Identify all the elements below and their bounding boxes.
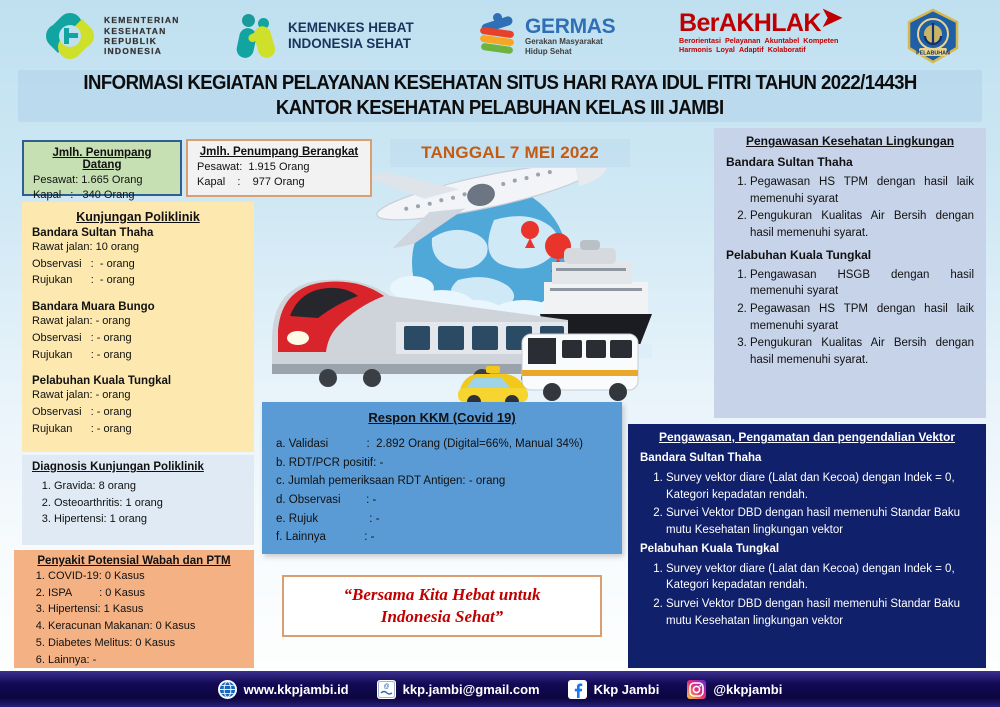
- list-item: Survey vektor diare (Lalat dan Kecoa) de…: [666, 561, 974, 594]
- poliklinik-group-0-row-1: Observasi : - orang: [32, 256, 244, 273]
- berakhlak-sub-line-2: HarmonisLoyalAdaptifKolaboratif: [679, 45, 843, 55]
- list-item: Hipertensi: 1 orang: [54, 511, 244, 528]
- respon-kkm-row-f: f. Lainnya : -: [276, 528, 608, 547]
- poliklinik-group-muara-bungo: Bandara Muara Bungo Rawat jalan: - orang…: [32, 301, 244, 363]
- respon-kkm-row-d: d. Observasi : -: [276, 491, 608, 510]
- footer-instagram-label: @kkpjambi: [713, 682, 782, 697]
- header-logo-band: KEMENTERIAN KESEHATAN REPUBLIK INDONESIA…: [0, 0, 1000, 68]
- footer-website[interactable]: www.kkpjambi.id: [218, 680, 349, 699]
- globe-icon: [218, 680, 237, 699]
- footer-facebook-label: Kkp Jambi: [594, 682, 660, 697]
- kesling-title: Pengawasan Kesehatan Lingkungan: [726, 134, 974, 148]
- list-item: Pegawasan HS TPM dengan hasil laik memen…: [750, 174, 974, 207]
- slogan-line-2: Indonesia Sehat”: [381, 606, 503, 628]
- poster-title-band: INFORMASI KEGIATAN PELAYANAN KESEHATAN S…: [18, 70, 982, 122]
- poliklinik-group-1-row-1: Observasi : - orang: [32, 330, 244, 347]
- vektor-group-0-list: Survey vektor diare (Lalat dan Kecoa) de…: [640, 470, 974, 539]
- respon-kkm-row-e: e. Rujuk : -: [276, 510, 608, 529]
- infographic-poster: KEMENTERIAN KESEHATAN REPUBLIK INDONESIA…: [0, 0, 1000, 707]
- page-title-line-2: KANTOR KESEHATAN PELABUHAN KELAS III JAM…: [276, 96, 724, 121]
- list-item: Survei Vektor DBD dengan hasil memenuhi …: [666, 596, 974, 629]
- respon-kkm-title: Respon KKM (Covid 19): [276, 410, 608, 425]
- list-item: ISPA : 0 Kasus: [48, 585, 246, 602]
- passenger-departure-title: Jmlh. Penumpang Berangkat: [197, 146, 361, 158]
- berakhlak-caret-icon: ➤: [821, 12, 843, 22]
- svg-text:PELABUHAN: PELABUHAN: [916, 51, 950, 57]
- list-item: Survey vektor diare (Lalat dan Kecoa) de…: [666, 470, 974, 503]
- respon-kkm-row-a: a. Validasi : 2.892 Orang (Digital=66%, …: [276, 435, 608, 454]
- list-item: COVID-19: 0 Kasus: [48, 568, 246, 585]
- pelabuhan-crest-icon: PELABUHAN: [905, 8, 961, 64]
- poliklinik-group-sultan-thaha: Bandara Sultan Thaha Rawat jalan: 10 ora…: [32, 227, 244, 289]
- germas-logo-text: GERMAS Gerakan Masyarakat Hidup Sehat: [525, 16, 615, 57]
- svg-text:@: @: [383, 684, 389, 690]
- list-item: Pengukuran Kualitas Air Bersih dengan ha…: [750, 208, 974, 241]
- passenger-departure-box: Jmlh. Penumpang Berangkat Pesawat: 1.915…: [186, 139, 372, 197]
- slogan-box: “Bersama Kita Hebat untuk Indonesia Seha…: [282, 575, 602, 637]
- passenger-arrival-plane: Pesawat: 1.665 Orang: [33, 173, 171, 188]
- vektor-group-0-name: Bandara Sultan Thaha: [640, 452, 974, 464]
- germas-mark-icon: [477, 13, 519, 59]
- poliklinik-group-0-name: Bandara Sultan Thaha: [32, 227, 244, 239]
- respon-kkm-panel: Respon KKM (Covid 19) a. Validasi : 2.89…: [262, 402, 622, 554]
- list-item: Keracunan Makanan: 0 Kasus: [48, 618, 246, 635]
- respon-kkm-row-b: b. RDT/PCR positif: -: [276, 454, 608, 473]
- berakhlak-sub-line-1: BerorientasiPelayananAkuntabelKompeten: [679, 36, 843, 46]
- kesling-group-1-list: Pengawasan HSGB dengan hasil memenuhi sy…: [726, 267, 974, 369]
- list-item: Gravida: 8 orang: [54, 478, 244, 495]
- passenger-departure-ship: Kapal : 977 Orang: [197, 175, 361, 190]
- poliklinik-group-1-row-2: Rujukan : - orang: [32, 347, 244, 364]
- berakhlak-logo: BerAKHLAK ➤ BerorientasiPelayananAkuntab…: [679, 12, 843, 55]
- poliklinik-group-0-row-2: Rujukan : - orang: [32, 272, 244, 289]
- passenger-arrival-box: Jmlh. Penumpang Datang Pesawat: 1.665 Or…: [22, 140, 182, 196]
- footer-email[interactable]: @ kkp.jambi@gmail.com: [377, 680, 540, 699]
- respon-kkm-row-c: c. Jumlah pemeriksaan RDT Antigen: - ora…: [276, 472, 608, 491]
- slogan-line-1: “Bersama Kita Hebat untuk: [344, 584, 541, 606]
- list-item: Diabetes Melitus: 0 Kasus: [48, 635, 246, 652]
- facebook-icon: [568, 680, 587, 699]
- list-item: Pegawasan HS TPM dengan hasil laik memen…: [750, 301, 974, 334]
- kesehatan-lingkungan-panel: Pengawasan Kesehatan Lingkungan Bandara …: [714, 128, 986, 418]
- kemenkes-ri-logo: KEMENTERIAN KESEHATAN REPUBLIK INDONESIA: [46, 12, 180, 60]
- kemenkes-hebat-logo-text: KEMENKES HEBAT INDONESIA SEHAT: [288, 20, 414, 51]
- poliklinik-group-1-row-0: Rawat jalan: - orang: [32, 313, 244, 330]
- poliklinik-group-2-row-0: Rawat jalan: - orang: [32, 387, 244, 404]
- footer-email-label: kkp.jambi@gmail.com: [403, 682, 540, 697]
- list-item: Osteoarthritis: 1 orang: [54, 495, 244, 512]
- poliklinik-group-kuala-tungkal: Pelabuhan Kuala Tungkal Rawat jalan: - o…: [32, 375, 244, 437]
- list-item: Hipertensi: 1 Kasus: [48, 601, 246, 618]
- pelabuhan-logo: PELABUHAN: [905, 8, 961, 64]
- passenger-departure-plane: Pesawat: 1.915 Orang: [197, 160, 361, 175]
- penyakit-title: Penyakit Potensial Wabah dan PTM: [22, 555, 246, 567]
- passenger-arrival-ship: Kapal : 340 Orang: [33, 188, 171, 203]
- passenger-arrival-title: Jmlh. Penumpang Datang: [33, 147, 171, 171]
- diagnosis-panel: Diagnosis Kunjungan Poliklinik Gravida: …: [22, 455, 254, 545]
- vektor-title: Pengawasan, Pengamatan dan pengendalian …: [640, 430, 974, 444]
- kemenkes-ri-mark-icon: [46, 12, 98, 60]
- kesling-group-0-list: Pegawasan HS TPM dengan hasil laik memen…: [726, 174, 974, 242]
- penyakit-potensial-panel: Penyakit Potensial Wabah dan PTM COVID-1…: [14, 550, 254, 668]
- berakhlak-logo-text: BerAKHLAK ➤ BerorientasiPelayananAkuntab…: [679, 12, 843, 55]
- kemenkes-hebat-mark-icon: [236, 12, 282, 60]
- footer-website-label: www.kkpjambi.id: [244, 682, 349, 697]
- diagnosis-title: Diagnosis Kunjungan Poliklinik: [32, 461, 244, 473]
- list-item: Pengukuran Kualitas Air Bersih dengan ha…: [750, 335, 974, 368]
- vektor-group-1-list: Survey vektor diare (Lalat dan Kecoa) de…: [640, 561, 974, 630]
- list-item: Pengawasan HSGB dengan hasil memenuhi sy…: [750, 267, 974, 300]
- date-badge: TANGGAL 7 MEI 2022: [390, 139, 630, 167]
- diagnosis-list: Gravida: 8 orang Osteoarthritis: 1 orang…: [32, 478, 244, 528]
- footer-facebook[interactable]: Kkp Jambi: [568, 680, 660, 699]
- poliklinik-group-1-name: Bandara Muara Bungo: [32, 301, 244, 313]
- page-title-line-1: INFORMASI KEGIATAN PELAYANAN KESEHATAN S…: [83, 71, 916, 96]
- instagram-icon: [687, 680, 706, 699]
- kemenkes-hebat-logo: KEMENKES HEBAT INDONESIA SEHAT: [236, 12, 414, 60]
- email-icon: @: [377, 680, 396, 699]
- poliklinik-group-2-row-2: Rujukan : - orang: [32, 421, 244, 438]
- pengendalian-vektor-panel: Pengawasan, Pengamatan dan pengendalian …: [628, 424, 986, 668]
- kemenkes-ri-logo-text: KEMENTERIAN KESEHATAN REPUBLIK INDONESIA: [104, 15, 180, 56]
- poliklinik-group-2-name: Pelabuhan Kuala Tungkal: [32, 375, 244, 387]
- poliklinik-group-2-row-1: Observasi : - orang: [32, 404, 244, 421]
- list-item: Survei Vektor DBD dengan hasil memenuhi …: [666, 505, 974, 538]
- poliklinik-title: Kunjungan Poliklinik: [32, 210, 244, 224]
- kesling-group-0-name: Bandara Sultan Thaha: [726, 155, 974, 169]
- transport-illustration: [262, 168, 652, 408]
- germas-logo: GERMAS Gerakan Masyarakat Hidup Sehat: [477, 13, 615, 59]
- list-item: Lainnya: -: [48, 652, 246, 669]
- penyakit-list: COVID-19: 0 Kasus ISPA : 0 Kasus Hiperte…: [22, 568, 246, 668]
- poliklinik-group-0-row-0: Rawat jalan: 10 orang: [32, 239, 244, 256]
- vektor-group-1-name: Pelabuhan Kuala Tungkal: [640, 543, 974, 555]
- kesling-group-1-name: Pelabuhan Kuala Tungkal: [726, 248, 974, 262]
- footer-instagram[interactable]: @kkpjambi: [687, 680, 782, 699]
- poliklinik-panel: Kunjungan Poliklinik Bandara Sultan Thah…: [22, 202, 254, 452]
- contact-footer: www.kkpjambi.id @ kkp.jambi@gmail.com Kk…: [0, 671, 1000, 707]
